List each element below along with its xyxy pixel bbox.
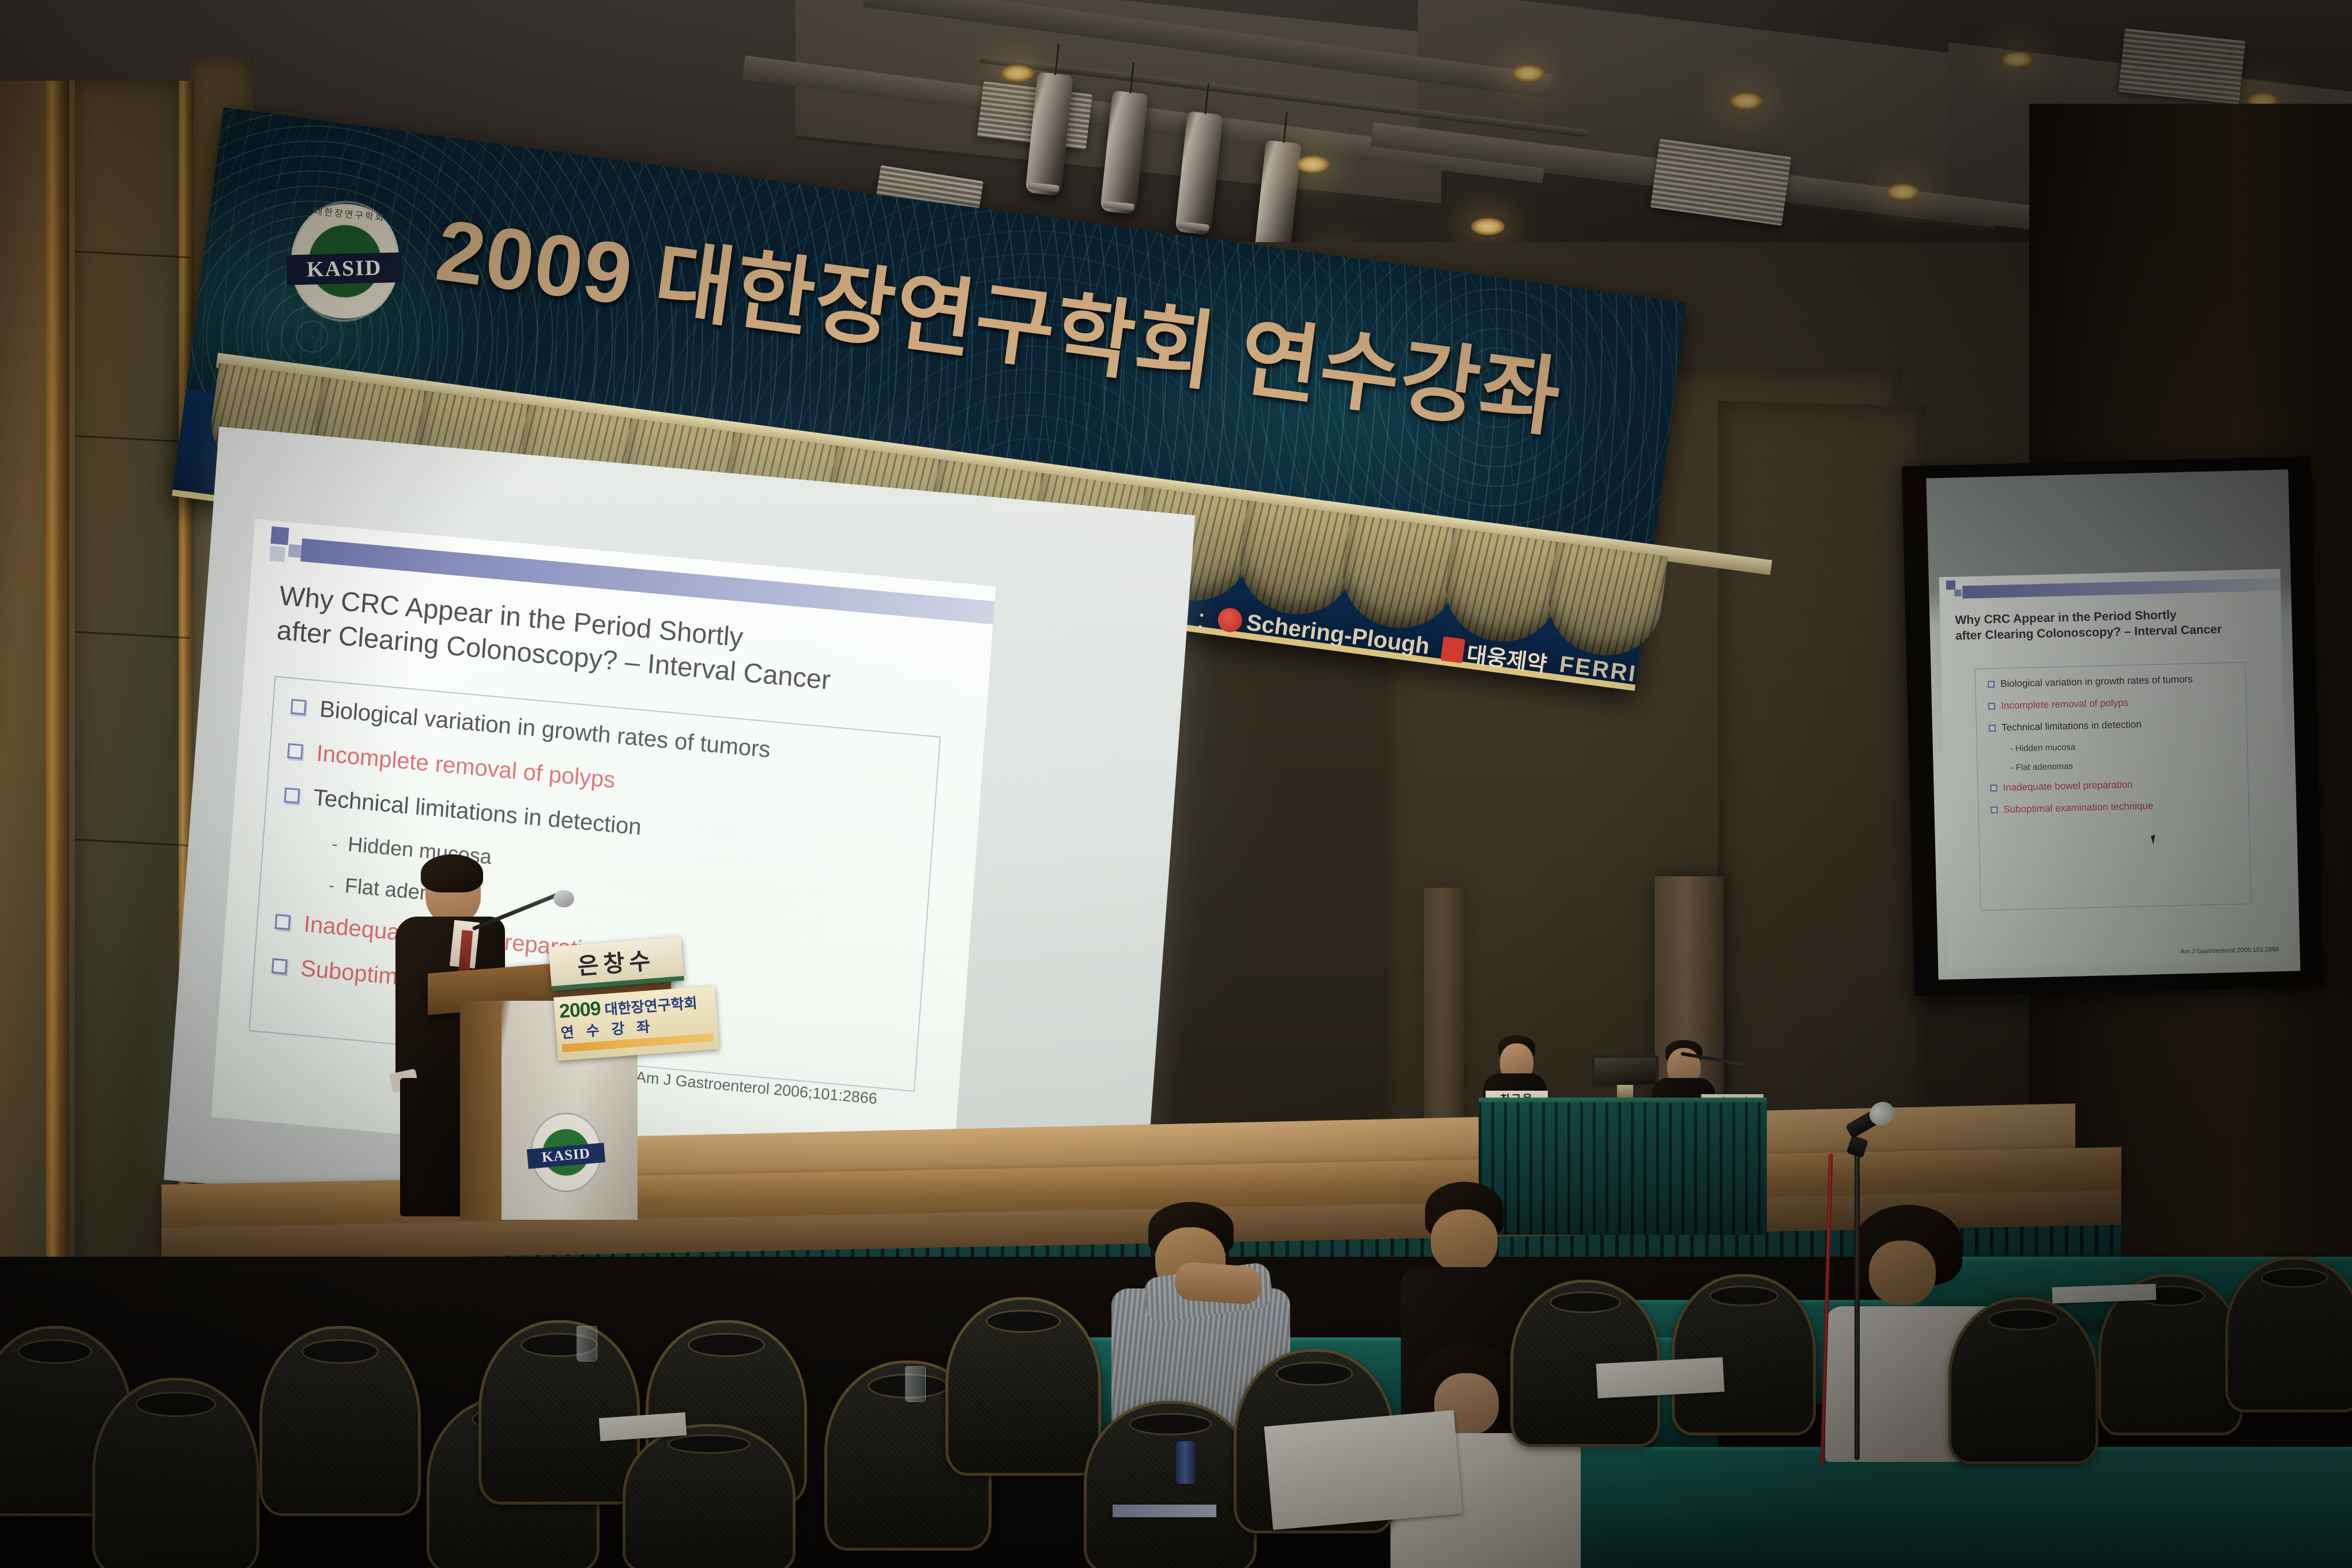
side-bullet: Incomplete removal of polyps	[1988, 695, 2242, 713]
audience-chair[interactable]	[92, 1378, 259, 1568]
audience-hands	[1174, 1261, 1262, 1305]
audience-chair[interactable]	[478, 1320, 640, 1505]
bullet-square-icon	[1989, 725, 1996, 732]
chair-back[interactable]	[92, 1378, 259, 1568]
podium-event-sign: 2009 대한장연구학회 연 수 강 좌	[553, 986, 719, 1061]
bullet-square-icon	[274, 914, 291, 930]
side-bullet-text: Inadequate bowel preparation	[2003, 779, 2132, 793]
sub-bullet-dash: -	[331, 835, 338, 855]
slide-pixel-decor	[288, 544, 302, 558]
bullet-square-icon	[1990, 785, 1997, 791]
table-papers	[1596, 1357, 1725, 1398]
monitor-screen	[1592, 1055, 1659, 1087]
chair-notch	[17, 1339, 92, 1364]
bullet-square-icon	[291, 699, 307, 715]
side-slide-pixel-decor	[1954, 589, 1961, 596]
microphone-clip	[1846, 1135, 1868, 1158]
speaker-name: 은창수	[576, 942, 656, 981]
ceiling-downlight	[1296, 156, 1329, 173]
podium-kasid-acronym: KASID	[541, 1145, 591, 1166]
chair-notch	[986, 1310, 1061, 1333]
chair-back[interactable]	[2225, 1257, 2352, 1412]
audience-chair[interactable]	[259, 1326, 421, 1516]
chair-notch	[1129, 1413, 1212, 1435]
side-bullet-text: Suboptimal examination technique	[2003, 800, 2153, 815]
chair-notch	[1550, 1291, 1622, 1313]
side-slide-bullet-list: Biological variation in growth rates of …	[1988, 673, 2245, 827]
side-bullet: Suboptimal examination technique	[1991, 798, 2244, 816]
side-slide: Why CRC Appear in the Period Shortly aft…	[1939, 569, 2290, 969]
table-pens	[1113, 1505, 1216, 1517]
audience-head	[1431, 1209, 1498, 1273]
microphone-cable	[1820, 1154, 1833, 1465]
conference-hall-photo: 대한장연구학회 KASID 2009대한장연구학회 연수강좌 일시 : 2009…	[0, 0, 2352, 1568]
head-table-monitor	[1592, 1055, 1659, 1100]
audience-chair[interactable]	[2225, 1257, 2352, 1412]
chair-notch	[1988, 1309, 2060, 1330]
valance-swag	[1439, 528, 1566, 649]
chair-back[interactable]	[1672, 1274, 1816, 1435]
bullet-square-icon	[1988, 681, 1995, 688]
slide-pixel-decor	[269, 546, 285, 562]
chair-back[interactable]	[623, 1424, 796, 1568]
chair-notch	[688, 1333, 765, 1357]
side-bullet-text: Technical limitations in detection	[2002, 719, 2142, 734]
side-projection-screen: Why CRC Appear in the Period Shortly aft…	[1926, 469, 2300, 979]
chair-back[interactable]	[945, 1297, 1101, 1476]
kasid-logo-acronym: KASID	[306, 255, 382, 282]
water-glass[interactable]	[905, 1366, 926, 1402]
chair-notch	[668, 1434, 751, 1454]
side-sub-bullet: - Hidden mucosa	[2010, 738, 2243, 753]
side-bullet: Technical limitations in detection	[1989, 717, 2242, 734]
air-vent	[2119, 28, 2245, 104]
slide-pixel-decor	[270, 526, 289, 545]
microphone-icon[interactable]	[1844, 1098, 1897, 1140]
valance-swag	[1336, 514, 1463, 635]
bullet-square-icon	[287, 743, 303, 759]
bullet-square-icon	[1991, 806, 1997, 813]
side-bullet-text: Incomplete removal of polyps	[2001, 697, 2129, 711]
audience-chair[interactable]	[1084, 1401, 1257, 1568]
bullet-text: Technical limitations in detection	[312, 785, 642, 840]
podium-microphone-head-icon	[553, 890, 574, 907]
chair-notch	[2261, 1268, 2327, 1288]
podium-kasid-logo-bar: KASID	[527, 1143, 605, 1169]
sub-bullet-dash: -	[328, 876, 335, 896]
ceiling-downlight	[1512, 65, 1545, 82]
ceiling-downlight	[1001, 65, 1034, 82]
chair-notch	[135, 1392, 216, 1417]
chair-back[interactable]	[1084, 1401, 1257, 1568]
kasid-logo-bar: KASID	[287, 252, 402, 285]
chair-back[interactable]	[478, 1320, 640, 1505]
ceiling-downlight	[1729, 92, 1763, 110]
bullet-square-icon	[1988, 703, 1995, 710]
chair-notch	[301, 1339, 379, 1364]
side-slide-title: Why CRC Appear in the Period Shortly aft…	[1955, 605, 2267, 644]
chair-notch	[1276, 1362, 1353, 1386]
valance-swag	[1542, 541, 1668, 662]
side-slide-header-bar	[1962, 578, 2281, 598]
side-slide-pixel-decor	[1946, 581, 1955, 590]
microphone-pole[interactable]	[1855, 1149, 1860, 1460]
podium-left-column	[460, 1001, 502, 1220]
chair-back[interactable]	[1948, 1297, 2098, 1464]
audience-chair[interactable]	[623, 1424, 796, 1568]
ceiling-downlight	[1471, 218, 1505, 235]
side-screen-frame: Why CRC Appear in the Period Shortly aft…	[1902, 456, 2324, 996]
banner-year: 2009	[431, 201, 639, 323]
side-bullet: Inadequate bowel preparation	[1990, 776, 2244, 794]
chair-back[interactable]	[259, 1326, 421, 1516]
audience-table	[1533, 1447, 2352, 1568]
chair-notch	[1709, 1286, 1778, 1306]
bullet-square-icon	[272, 958, 288, 974]
speaker-hair	[421, 854, 483, 892]
lectern-podium: 은창수 2009 대한장연구학회 연 수 강 좌 KASID	[428, 964, 671, 1218]
side-slide-citation: Am J Gastroenterol 2006;101:2866	[2180, 946, 2279, 955]
bullet-square-icon	[284, 787, 300, 803]
water-glass[interactable]	[576, 1326, 597, 1362]
audience-chair[interactable]	[945, 1297, 1101, 1476]
ceiling-downlight	[2000, 51, 2034, 68]
floor-microphone-stand[interactable]	[1819, 1104, 1911, 1461]
ceiling-downlight	[1886, 183, 1920, 201]
valance-swag	[1234, 500, 1360, 621]
side-sub-bullet: - Flat adenomas	[2010, 757, 2243, 772]
wall-column	[46, 81, 69, 1291]
audience-handout	[1264, 1410, 1463, 1530]
audience-chair[interactable]	[1948, 1297, 2098, 1464]
beverage-can[interactable]	[1176, 1441, 1196, 1484]
podium-kasid-logo: KASID	[530, 1113, 602, 1192]
bullet-text: Incomplete removal of polyps	[315, 740, 616, 793]
audience-chair[interactable]	[1672, 1274, 1816, 1435]
wall-panel	[75, 81, 184, 1291]
